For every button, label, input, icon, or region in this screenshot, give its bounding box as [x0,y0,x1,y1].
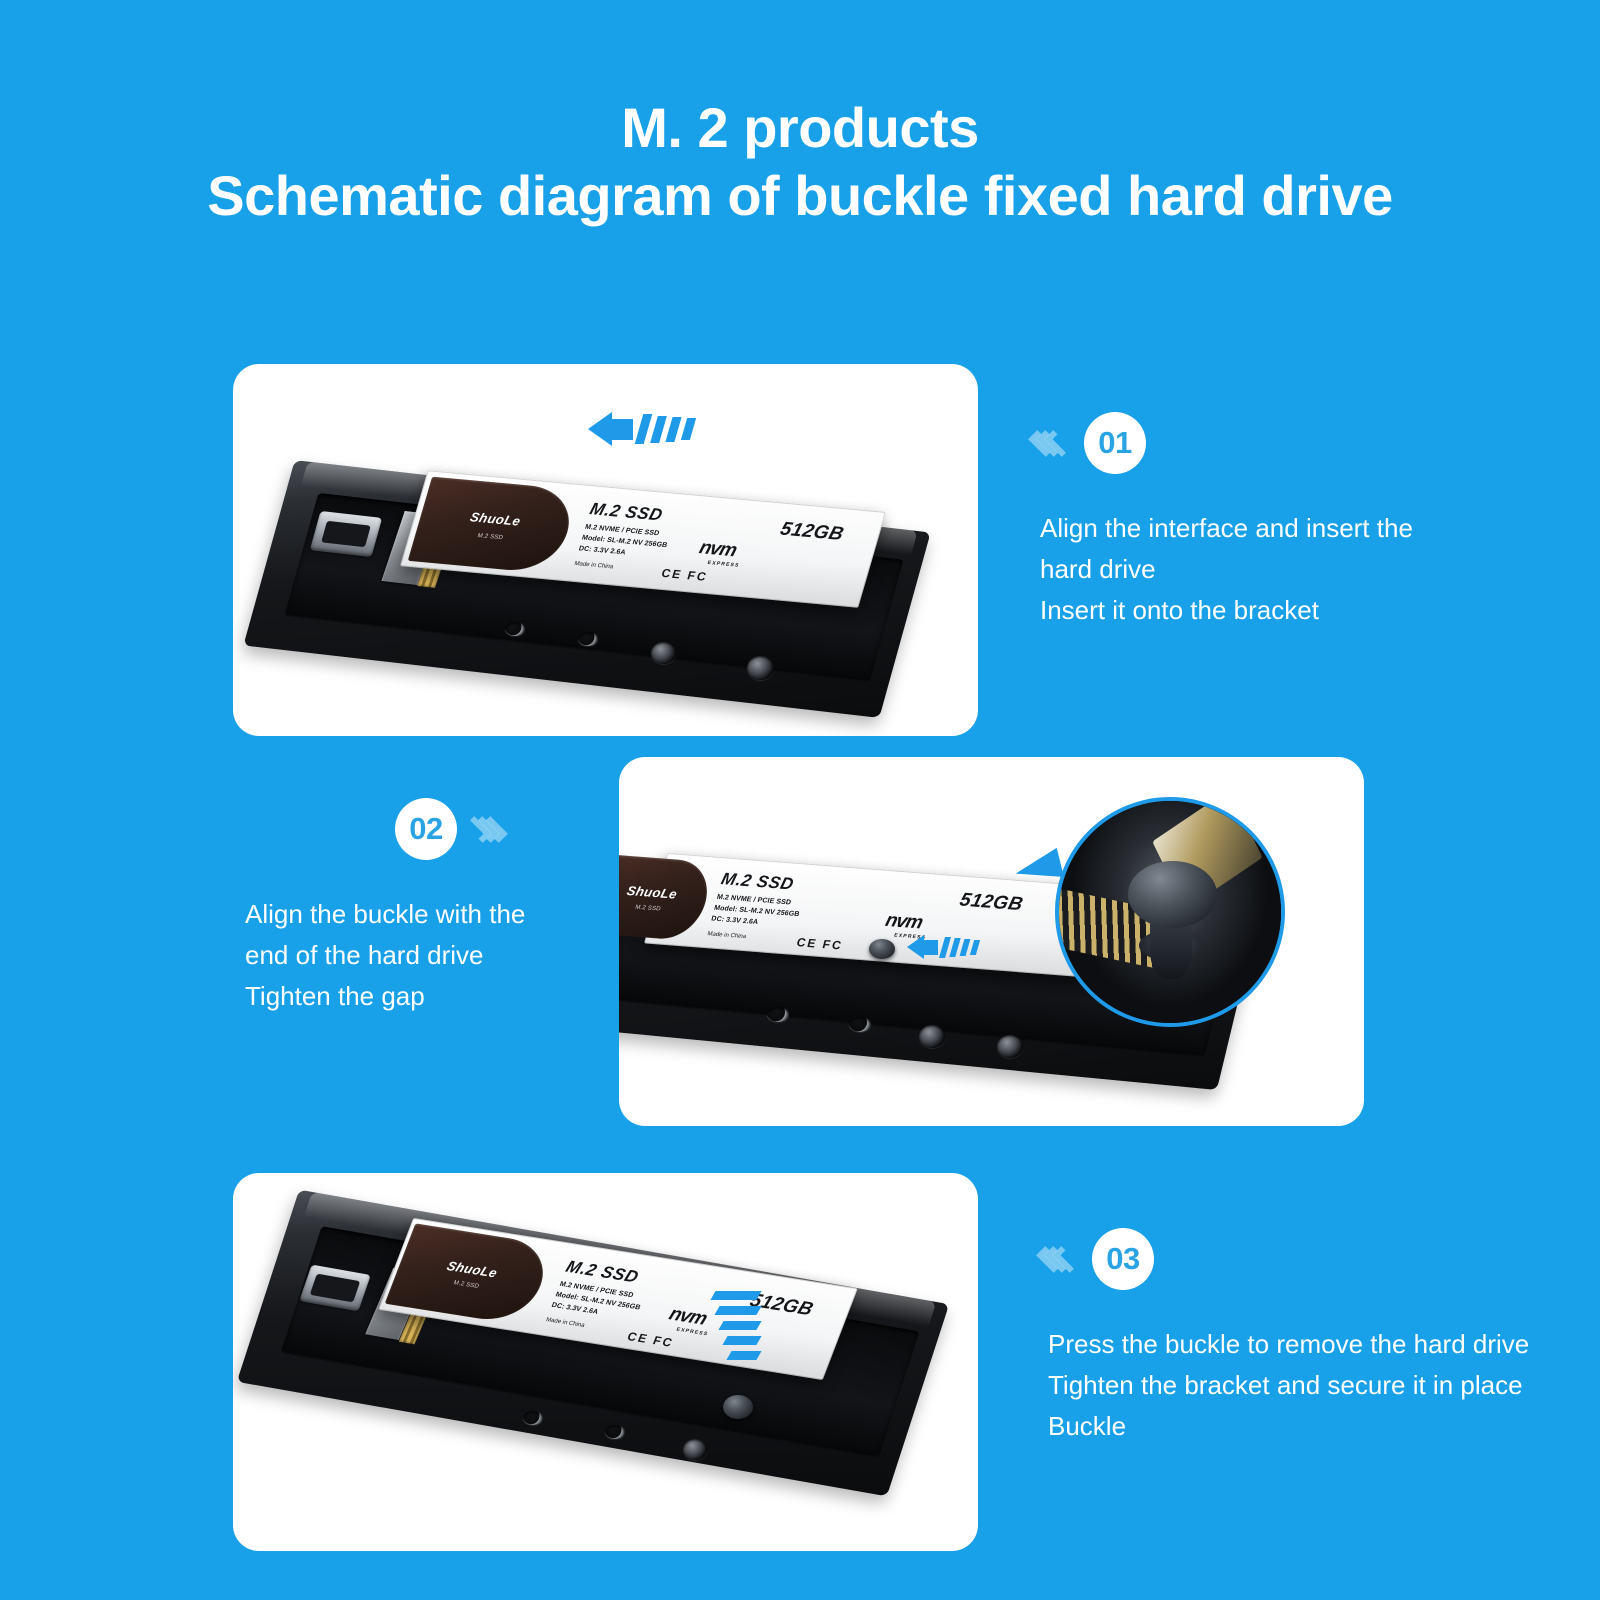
step-badge-02: 02 [395,798,457,860]
step-badge-01: 01 [1084,412,1146,474]
step-block-01: 01 Align the interface and insert the ha… [1040,412,1560,631]
certification-marks: CE FC [660,566,710,584]
motion-streak [681,418,696,440]
photo-panel-3: ShuoLe M.2 SSD M.2 SSD M.2 NVME / PCIE S… [233,1173,978,1551]
nvm-express-sub: EXPRESS [707,560,741,569]
arrow-tail [923,940,938,955]
step-block-03: 03 Press the buckle to remove the hard d… [1048,1228,1593,1447]
press-bar [714,1306,761,1315]
nvm-express-logo: nvm [666,1304,710,1331]
product-photo-scene-3: ShuoLe M.2 SSD M.2 SSD M.2 NVME / PCIE S… [233,1173,978,1551]
chevron-left-icon [1040,431,1064,456]
motion-streak [960,939,971,956]
mounting-hole [997,1035,1023,1058]
certification-marks: CE FC [625,1329,676,1350]
motion-streak [665,417,681,442]
page-header: M. 2 products Schematic diagram of buckl… [0,96,1600,233]
step-line: Tighten the gap [245,976,645,1017]
product-photo-scene-2: ShuoLe M.2 SSD M.2 SSD M.2 NVME / PCIE S… [619,757,1364,1126]
mounting-hole [505,622,525,636]
step-description-03: Press the buckle to remove the hard driv… [1048,1324,1593,1447]
step-line: end of the hard drive [245,935,645,976]
mounting-hole [651,642,676,664]
arrow-head-icon [907,935,924,959]
motion-streak [635,414,653,444]
usb-c-connector [310,511,382,557]
certification-marks: CE FC [795,935,844,952]
motion-streak [650,416,667,443]
nvm-express-logo: nvm [883,910,925,934]
page-title-line2: Schematic diagram of buckle fixed hard d… [0,160,1600,233]
mounting-hole [578,632,598,646]
photo-panel-1: ShuoLe M.2 SSD M.2 SSD M.2 NVME / PCIE S… [233,364,978,736]
step-line: Align the interface and insert the [1040,508,1560,549]
ssd-brand-text: ShuoLe [400,1251,546,1288]
ssd-label-origin: Made in China [545,1317,585,1329]
step-line: Align the buckle with the [245,894,645,935]
mounting-hole [683,1439,707,1460]
callout-grommet-head [1128,861,1217,928]
step-line: hard drive [1040,549,1560,590]
chevron-left-icon [1048,1247,1072,1272]
arrow-head-icon [588,412,612,446]
press-bar [710,1291,761,1300]
mounting-hole [523,1411,543,1425]
step-block-02: 02 Align the buckle with the end of the … [245,798,645,1017]
step-header-03: 03 [1048,1228,1593,1290]
ssd-label-spec3: DC: 3.3V 2.6A [710,915,759,929]
page-title-line1: M. 2 products [0,96,1600,160]
ssd-label-origin: Made in China [707,931,747,940]
ssd-label-capacity: 512GB [957,890,1025,916]
left-insert-arrow [907,935,978,959]
press-bar [718,1321,761,1330]
mounting-hole [767,1007,789,1022]
step-line: Tighten the bracket and secure it in pla… [1048,1365,1593,1406]
press-bar [726,1351,761,1360]
photo-panel-2: ShuoLe M.2 SSD M.2 SSD M.2 NVME / PCIE S… [619,757,1364,1126]
ssd-controller-chip: ShuoLe M.2 SSD [408,477,580,575]
mounting-hole [605,1425,625,1439]
step-line: Press the buckle to remove the hard driv… [1048,1324,1593,1365]
ssd-label-title: M.2 SSD [719,869,796,894]
step-header-01: 01 [1040,412,1560,474]
ssd-label-title: M.2 SSD [588,499,666,525]
arrow-tail [611,419,633,440]
rubber-buckle-grommet [723,1395,753,1419]
ssd-controller-chip: ShuoLe M.2 SSD [385,1223,556,1325]
down-press-arrow [713,1291,759,1366]
ssd-label-origin: Made in China [574,561,614,570]
callout-background [1059,801,1281,1023]
step-line: Insert it onto the bracket [1040,590,1560,631]
product-photo-scene-1: ShuoLe M.2 SSD M.2 SSD M.2 NVME / PCIE S… [233,364,978,736]
chevron-right-icon [477,817,501,842]
buckle-zoom-callout [1055,797,1285,1027]
nvm-express-logo: nvm [696,537,738,562]
mounting-hole [849,1017,871,1032]
nvm-express-sub: EXPRESS [675,1327,709,1338]
step-description-02: Align the buckle with the end of the har… [245,894,645,1017]
rubber-buckle-grommet [869,939,895,959]
step-header-02: 02 [245,798,645,860]
press-bar [722,1336,761,1345]
mounting-hole [747,656,774,680]
ssd-label-capacity: 512GB [778,519,847,546]
mounting-hole [919,1025,945,1048]
step-badge-03: 03 [1092,1228,1154,1290]
step-line: Buckle [1048,1406,1593,1447]
left-insert-arrow [588,412,693,446]
step-description-01: Align the interface and insert the hard … [1040,508,1560,631]
